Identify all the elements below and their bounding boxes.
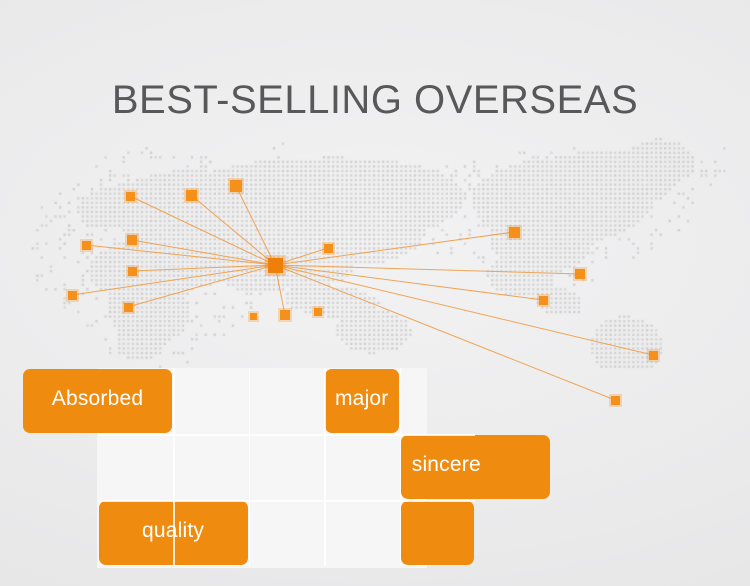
grid-line-vertical (324, 368, 326, 566)
mosaic-tile-label: Absorbed (52, 387, 144, 411)
map-node-marker (186, 190, 197, 201)
grid-line-horizontal (98, 434, 476, 436)
grid-line-vertical (400, 368, 402, 566)
route-line (275, 265, 543, 300)
mosaic-tile (401, 501, 475, 565)
route-line (128, 265, 275, 307)
tile-mosaic: Absorbedmajorsincerequality (22, 368, 500, 568)
map-node-marker (314, 308, 322, 316)
route-line (275, 265, 285, 315)
mosaic-tile-label: quality (142, 519, 204, 543)
map-node-marker (124, 303, 133, 312)
map-node-marker (649, 351, 658, 360)
map-node-marker (230, 180, 242, 192)
map-node-marker (126, 192, 135, 201)
map-node-marker (128, 267, 137, 276)
map-node-marker (324, 244, 333, 253)
route-line (191, 195, 275, 265)
map-node-marker (250, 313, 257, 320)
route-line (275, 265, 653, 355)
grid-line-vertical (249, 368, 251, 566)
map-node-marker (82, 241, 91, 250)
map-node-marker (127, 235, 137, 245)
promo-banner: BEST-SELLING OVERSEAS Absorbedmajorsince… (0, 0, 750, 586)
map-node-marker (280, 310, 290, 320)
route-line (275, 265, 580, 274)
page-title: BEST-SELLING OVERSEAS (0, 78, 750, 123)
route-line (236, 186, 275, 265)
map-node-marker (575, 269, 585, 279)
map-node-marker (509, 227, 520, 238)
map-node-marker (611, 396, 620, 405)
map-node-marker (539, 296, 548, 305)
mosaic-tile-label: sincere (412, 453, 481, 477)
route-line (130, 196, 275, 265)
map-node-marker (68, 291, 77, 300)
map-hub-marker (268, 258, 283, 273)
route-line (275, 232, 514, 265)
grid-line-horizontal (98, 500, 476, 502)
mosaic-tile-label: major (335, 387, 389, 411)
route-line (275, 248, 328, 265)
